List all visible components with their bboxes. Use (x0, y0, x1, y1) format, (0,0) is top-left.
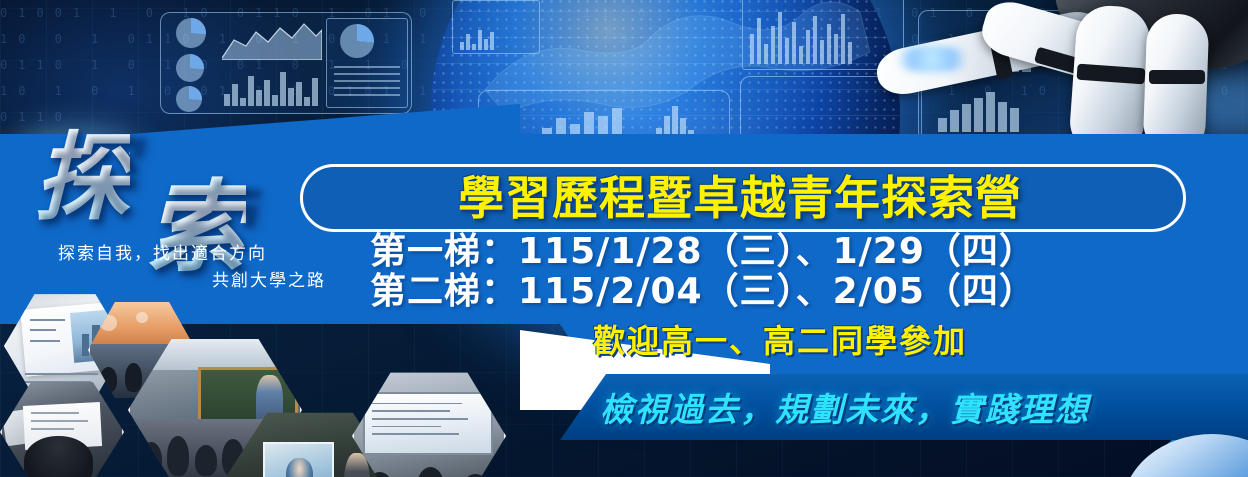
screen-data-row (372, 403, 462, 405)
notes-written-line (31, 428, 74, 430)
screen-data-row (372, 410, 450, 412)
screen-viewer-head (417, 467, 444, 477)
tagline-line-2: 共創大學之路 (58, 268, 326, 295)
schedule-list: 第一梯：115/1/28（三）、1/29（四） 第二梯：115/2/04（三）、… (370, 232, 1160, 312)
schedule-session-2: 第二梯：115/2/04（三）、2/05（四） (370, 272, 1160, 312)
hero-tagline: 探索自我，找出適合方向 共創大學之路 (58, 241, 326, 295)
hud-area-chart (222, 18, 322, 60)
poster-text-line (25, 373, 98, 375)
hud-pie-chart-2 (176, 54, 204, 82)
poster-building (82, 334, 89, 357)
hud-bar-chart-mini (460, 28, 494, 50)
poster-text-line (30, 340, 61, 342)
page-title: 學習歷程暨卓越青年探索營 (306, 166, 1174, 224)
hud-bar-chart-small (224, 66, 318, 106)
hud-candlestick-chart (750, 8, 852, 64)
robot-fingertip-glow (887, 46, 977, 72)
notes-written-line (31, 412, 79, 414)
screen-data-row (372, 426, 441, 428)
robot-finger-pinky (1143, 13, 1210, 155)
classroom-student-head (195, 445, 217, 477)
hud-report-lines (334, 66, 400, 101)
schedule-session-1: 第一梯：115/1/28（三）、1/29（四） (370, 232, 1160, 272)
poster-text-line (30, 319, 65, 321)
poster-text-line (30, 329, 56, 331)
notes-student-head (24, 436, 94, 477)
robot-knuckle-pinky (1149, 70, 1205, 84)
hud-pie-chart-3 (176, 86, 202, 112)
tagline-line-1: 探索自我，找出適合方向 (58, 241, 326, 268)
classroom2-student-head (125, 363, 142, 392)
hud-donut-chart (340, 24, 374, 58)
slogan-text: 檢視過去，規劃未來，實踐理想 (600, 380, 1220, 434)
notes-written-line (31, 420, 89, 422)
classroom-student-head (167, 436, 189, 476)
audience-note: 歡迎高一、高二同學參加 (500, 316, 1060, 362)
event-banner: 01001 1 0 10 0110 1 01 0 1001 0 11 010 1… (0, 0, 1248, 477)
screen-data-row (372, 433, 459, 435)
screen-data-row (372, 418, 468, 420)
hud-pie-chart-1 (176, 18, 206, 48)
